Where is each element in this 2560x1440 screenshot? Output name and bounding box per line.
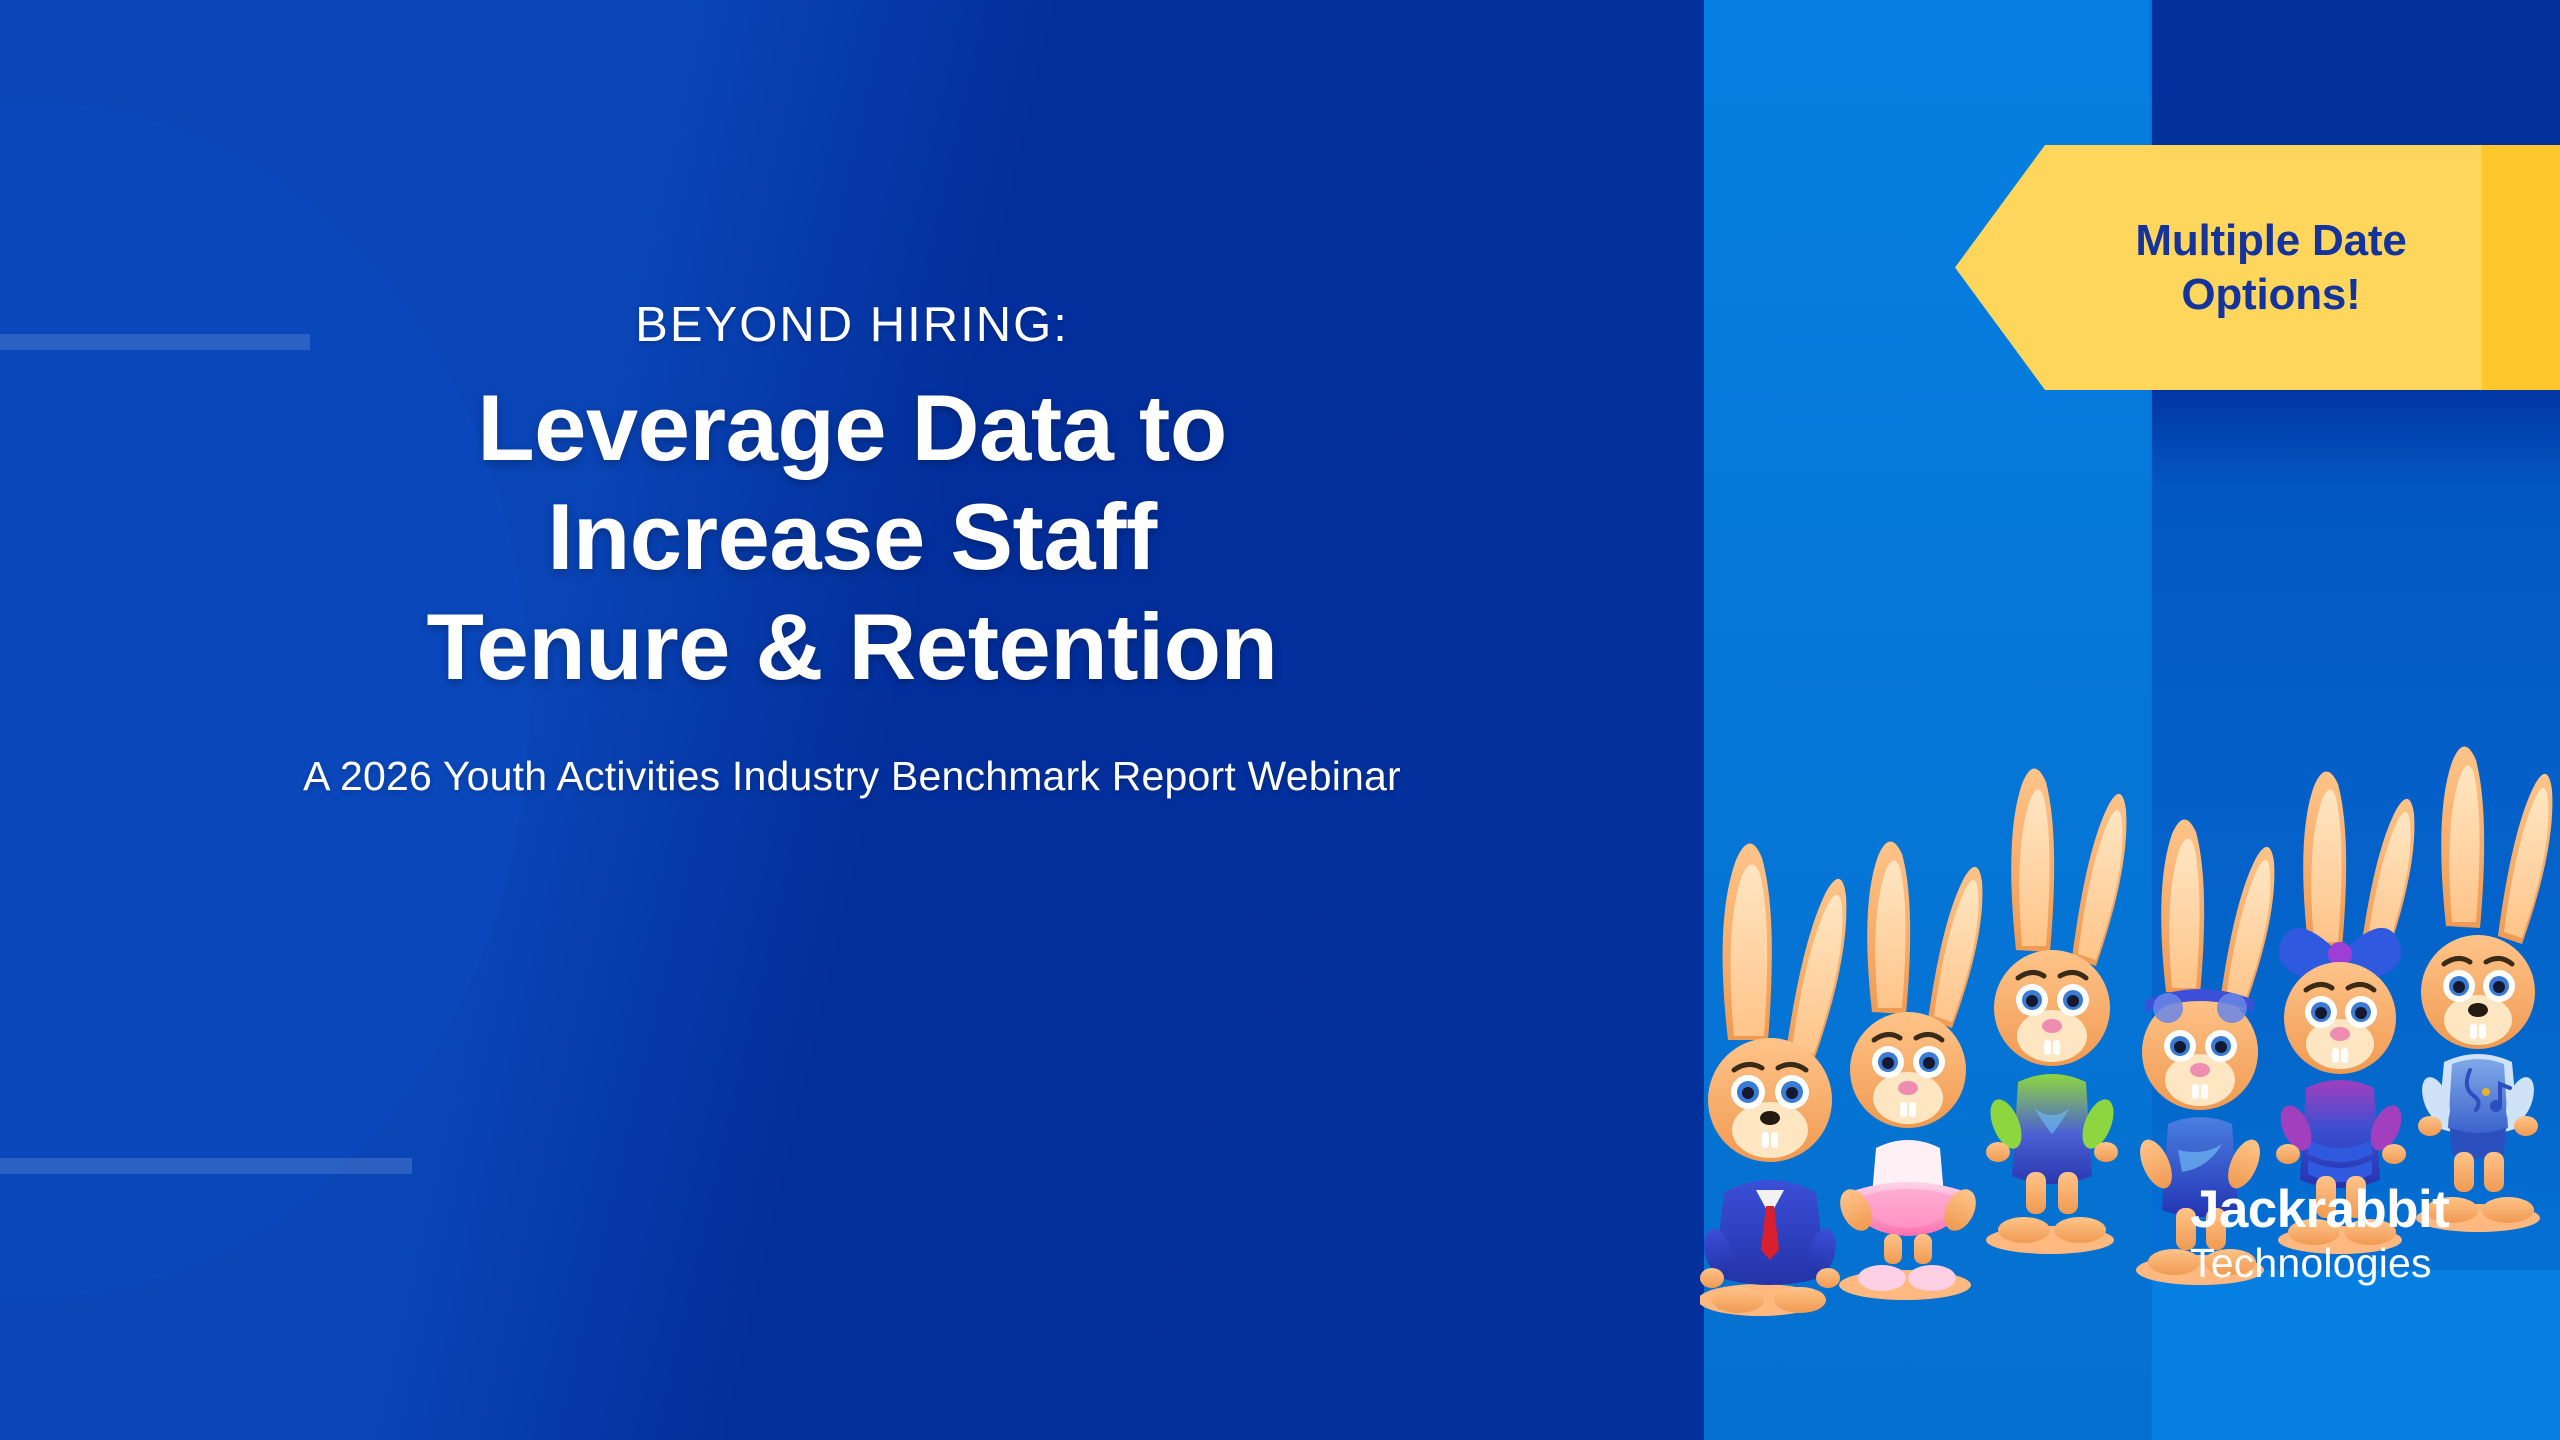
- gymnast-rabbit-figure: [1984, 768, 2126, 1254]
- headline-line-3: Tenure & Retention: [427, 592, 1278, 701]
- headline-line-2: Increase Staff: [427, 482, 1278, 591]
- ballerina-rabbit-figure: [1834, 841, 1983, 1300]
- page-title: Leverage Data to Increase Staff Tenure &…: [427, 373, 1278, 700]
- eyebrow-label: BEYOND HIRING:: [635, 300, 1069, 351]
- musician-rabbit-figure: [2416, 746, 2552, 1232]
- logo-name: Jackrabbit: [2190, 1183, 2449, 1236]
- headline-line-1: Leverage Data to: [427, 373, 1278, 482]
- webinar-promo-slide: BEYOND HIRING: Leverage Data to Increase…: [0, 0, 2560, 1440]
- status-badge: Multiple Date Options!: [1955, 145, 2560, 390]
- subtitle: A 2026 Youth Activities Industry Benchma…: [303, 753, 1401, 800]
- badge-text: Multiple Date Options!: [2051, 145, 2491, 390]
- title-text-block: BEYOND HIRING: Leverage Data to Increase…: [0, 0, 1704, 1440]
- badge-line-2: Options!: [2181, 268, 2360, 322]
- brand-logo: Jackrabbit Technologies: [2190, 1183, 2449, 1284]
- businessman-rabbit-figure: [1700, 843, 1846, 1316]
- logo-tagline: Technologies: [2190, 1243, 2449, 1284]
- badge-line-1: Multiple Date: [2135, 214, 2406, 268]
